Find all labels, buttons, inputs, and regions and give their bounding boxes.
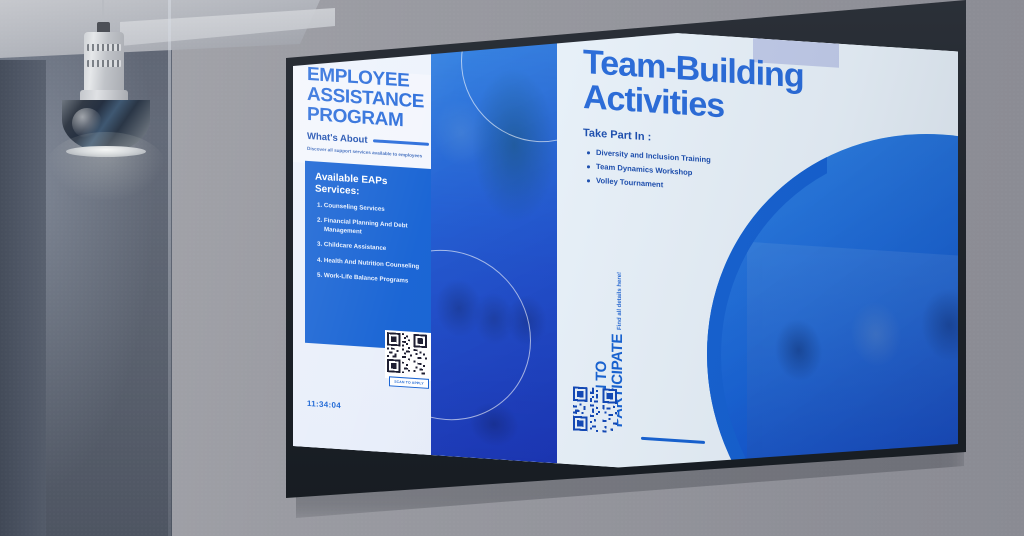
poster-left-panel: Your Logo EMPLOYEE ASSISTANCE PROGRAM Wh…: [293, 8, 431, 455]
headline: Team-Building Activities: [583, 45, 913, 137]
display-screen[interactable]: Your Logo EMPLOYEE ASSISTANCE PROGRAM Wh…: [293, 8, 959, 490]
logo-mark-icon: [309, 25, 318, 35]
page-title: EMPLOYEE ASSISTANCE PROGRAM: [307, 65, 429, 133]
list-item: 1. Counseling Services: [317, 202, 425, 217]
lamp-vent-upper: [87, 44, 121, 51]
scan-subtext: Find all details here!: [617, 272, 625, 331]
lamp-vent-lower: [87, 60, 121, 67]
poster-right-panel: Team-Building Activities Take Part In : …: [557, 25, 959, 489]
list-item: 3. Childcare Assistance: [317, 241, 425, 256]
list-item: 2. Financial Planning And Debt Managemen…: [317, 217, 425, 241]
qr-code-apply[interactable]: [385, 330, 433, 381]
services-heading-line-2: Services:: [315, 183, 359, 197]
subheading: Take Part In :: [583, 127, 651, 143]
screenshot-stage: Your Logo EMPLOYEE ASSISTANCE PROGRAM Wh…: [0, 0, 1024, 536]
activities-list: Diversity and Inclusion Training Team Dy…: [587, 145, 711, 195]
office-photo-left: [431, 17, 557, 463]
services-heading: Available EAPs Services:: [315, 171, 419, 202]
services-card: Available EAPs Services: 1. Counseling S…: [305, 161, 431, 351]
eap-poster: Your Logo EMPLOYEE ASSISTANCE PROGRAM Wh…: [293, 8, 959, 490]
qr-code-participate[interactable]: [573, 386, 617, 433]
logo: Your Logo: [309, 25, 359, 37]
lamp-glow: [46, 132, 166, 202]
decorative-underline: [641, 437, 705, 444]
logo-label: Your Logo: [323, 27, 359, 36]
qr-apply-caption-text: SCAN TO APPLY: [394, 380, 424, 386]
list-item: 4. Health And Nutrition Counseling: [317, 256, 425, 271]
wall-mounted-display[interactable]: Your Logo EMPLOYEE ASSISTANCE PROGRAM Wh…: [266, 0, 966, 510]
scan-to-participate-block[interactable]: SCAN TO PARTICIPATE Find all details her…: [569, 224, 625, 454]
whats-about-rule: [373, 139, 429, 146]
pendant-lamp: [56, 0, 166, 150]
list-item: 5. Work-Life Balance Programs: [317, 272, 425, 287]
services-list: 1. Counseling Services 2. Financial Plan…: [317, 202, 425, 295]
display-screen-clip: Your Logo EMPLOYEE ASSISTANCE PROGRAM Wh…: [266, 0, 966, 510]
